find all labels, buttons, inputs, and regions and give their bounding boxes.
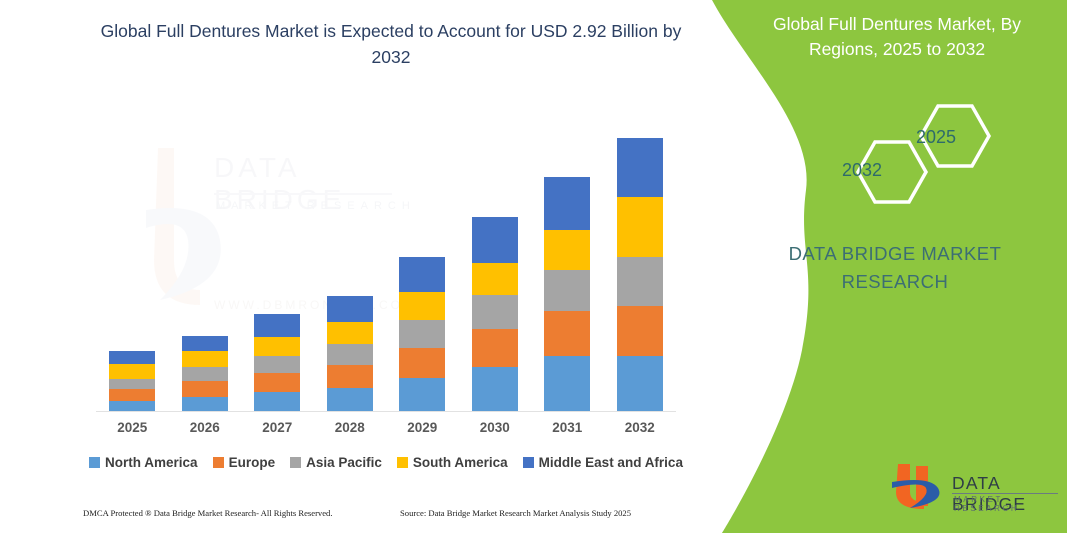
bar-segment (544, 270, 590, 312)
bar-segment (617, 138, 663, 197)
page-title: Global Full Dentures Market is Expected … (96, 18, 686, 71)
x-axis-label: 2025 (97, 420, 167, 435)
legend-swatch-icon (213, 457, 224, 468)
hexagon-2025-icon (921, 106, 989, 166)
infographic-page: Global Full Dentures Market is Expected … (0, 0, 1067, 533)
bar-segment (472, 263, 518, 296)
bar-segment (182, 336, 228, 351)
bar-segment (109, 351, 155, 364)
legend-label: Europe (229, 455, 276, 470)
bar-segment (617, 356, 663, 412)
bar-segment (109, 379, 155, 389)
legend-item[interactable]: Europe (213, 455, 276, 470)
x-axis-label: 2030 (460, 420, 530, 435)
legend-item[interactable]: North America (89, 455, 198, 470)
dbmr-logo-subtext: MARKET RESEARCH (954, 495, 1065, 513)
green-side-panel: Global Full Dentures Market, By Regions,… (690, 0, 1067, 533)
panel-brand-line1: DATA BRIDGE MARKET (789, 243, 1002, 264)
bar-segment (182, 351, 228, 367)
bar-column (254, 314, 300, 412)
bar-segment (327, 322, 373, 344)
x-axis-label: 2027 (242, 420, 312, 435)
bar-segment (109, 389, 155, 401)
bar-segment (544, 311, 590, 356)
legend-label: Middle East and Africa (539, 455, 683, 470)
bar-column (544, 177, 590, 412)
bar-segment (399, 320, 445, 348)
bar-segment (327, 365, 373, 388)
legend-label: North America (105, 455, 198, 470)
bar-segment (327, 388, 373, 412)
hexagon-2032-icon (858, 142, 926, 202)
legend-item[interactable]: Middle East and Africa (523, 455, 683, 470)
dbmr-logo-rule (952, 493, 1058, 494)
dbmr-logo: DATA BRIDGE MARKET RESEARCH (890, 462, 1065, 524)
x-axis-label: 2028 (315, 420, 385, 435)
bar-segment (399, 348, 445, 378)
legend-swatch-icon (89, 457, 100, 468)
legend-swatch-icon (290, 457, 301, 468)
dbmr-logo-mark-icon (890, 462, 948, 510)
bar-segment (399, 378, 445, 412)
bar-segment (254, 373, 300, 392)
bar-column (109, 351, 155, 412)
footer-copyright: DMCA Protected ® Data Bridge Market Rese… (83, 508, 333, 518)
bar-segment (182, 381, 228, 397)
x-axis-label: 2026 (170, 420, 240, 435)
chart-legend: North AmericaEuropeAsia PacificSouth Ame… (96, 455, 676, 470)
bar-segment (472, 217, 518, 263)
bar-column (617, 138, 663, 412)
bar-segment (254, 356, 300, 373)
x-axis-label: 2032 (605, 420, 675, 435)
bar-segment (617, 257, 663, 307)
bar-segment (472, 295, 518, 329)
legend-swatch-icon (397, 457, 408, 468)
panel-title: Global Full Dentures Market, By Regions,… (742, 12, 1052, 63)
bar-segment (472, 367, 518, 412)
bar-segment (327, 344, 373, 365)
x-axis-label: 2031 (532, 420, 602, 435)
bar-segment (472, 329, 518, 367)
legend-item[interactable]: South America (397, 455, 508, 470)
bar-column (327, 296, 373, 412)
bar-segment (109, 364, 155, 379)
panel-brand-name: DATA BRIDGE MARKET RESEARCH (730, 240, 1060, 296)
bar-segment (254, 392, 300, 412)
bar-segment (617, 197, 663, 257)
legend-label: Asia Pacific (306, 455, 382, 470)
legend-label: South America (413, 455, 508, 470)
bar-segment (254, 314, 300, 337)
bar-segment (617, 306, 663, 356)
legend-item[interactable]: Asia Pacific (290, 455, 382, 470)
x-axis-labels: 20252026202720282029203020312032 (96, 420, 676, 444)
bar-segment (327, 296, 373, 322)
panel-brand-line2: RESEARCH (842, 271, 949, 292)
hexagon-2032-label: 2032 (842, 160, 882, 181)
chart-baseline (96, 411, 676, 412)
bar-column (472, 217, 518, 412)
bar-segment (182, 367, 228, 381)
stacked-bar-chart (96, 120, 676, 412)
footer-source: Source: Data Bridge Market Research Mark… (400, 508, 631, 518)
bar-column (182, 336, 228, 412)
bar-segment (544, 356, 590, 412)
bar-segment (544, 230, 590, 270)
bar-segment (182, 397, 228, 412)
x-axis-label: 2029 (387, 420, 457, 435)
hexagon-2025-label: 2025 (916, 127, 956, 148)
bar-segment (399, 257, 445, 293)
legend-swatch-icon (523, 457, 534, 468)
bar-segment (254, 337, 300, 356)
bar-column (399, 257, 445, 412)
bar-segment (544, 177, 590, 230)
bar-segment (399, 292, 445, 320)
